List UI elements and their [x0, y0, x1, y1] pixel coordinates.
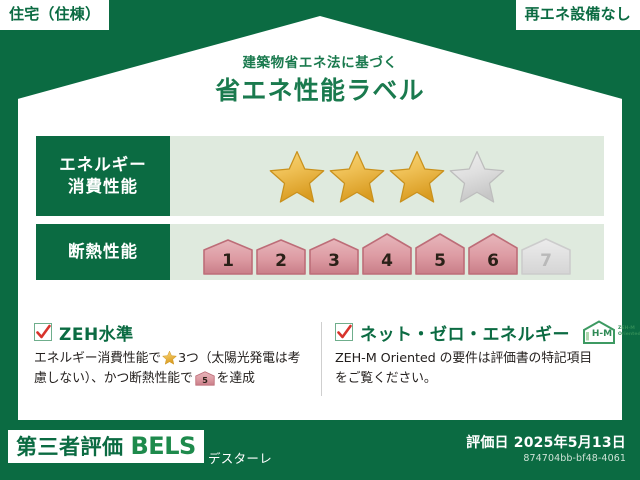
row-insulation-label: 断熱性能 — [36, 224, 170, 280]
bels-badge: 第三者評価 BELS — [8, 430, 204, 463]
performance-rows: エネルギー 消費性能 — [36, 136, 604, 288]
note-net-zero-body: ZEH-M Oriented の要件は評価書の特記項目をご覧ください。 — [335, 349, 594, 389]
check-icon — [337, 324, 352, 341]
insulation-level-1-number: 1 — [202, 253, 254, 270]
insulation-level-2: 2 — [255, 239, 307, 275]
label-title-block: 建築物省エネ法に基づく 省エネ性能ラベル — [0, 56, 640, 104]
note-zeh-standard-title: ZEH水準 — [59, 320, 134, 345]
label-footer: 第三者評価 BELS デスターレ 評価日 2025年5月13日 874704bb… — [0, 422, 640, 480]
note-zeh-standard: ZEH水準 エネルギー消費性能で3つ（太陽光発電は考慮しない）、かつ断熱性能で5… — [34, 320, 321, 393]
star-icon-3 — [388, 148, 446, 204]
row-insulation-performance: 断熱性能 — [36, 224, 604, 280]
insulation-level-scale: 1 2 3 — [202, 229, 572, 275]
row-energy-label-line1: エネルギー — [59, 154, 147, 176]
note-net-zero-head: ネット・ゼロ・エネルギー H-M ZEH-M Oriented — [335, 320, 594, 344]
row-insulation-value: 1 2 3 — [170, 224, 604, 280]
insulation-level-4: 4 — [361, 233, 413, 275]
note-net-zero-energy: ネット・ゼロ・エネルギー H-M ZEH-M Oriented ZEH-M Or… — [321, 320, 608, 393]
zeh-m-house-icon: H-M — [581, 319, 617, 345]
row-energy-performance: エネルギー 消費性能 — [36, 136, 604, 216]
note-zeh-standard-body: エネルギー消費性能で3つ（太陽光発電は考慮しない）、かつ断熱性能で5を達成 — [34, 349, 307, 393]
check-icon — [36, 324, 51, 341]
zeh-m-logo: H-M ZEH-M Oriented — [581, 319, 640, 345]
insulation-level-5: 5 — [414, 233, 466, 275]
insulation-level-3-number: 3 — [308, 253, 360, 270]
star-rating — [268, 148, 506, 204]
vendor-name: デスターレ — [208, 448, 272, 467]
inline-house-chip: 5 — [195, 375, 215, 390]
notes-section: ZEH水準 エネルギー消費性能で3つ（太陽光発電は考慮しない）、かつ断熱性能で5… — [34, 320, 608, 393]
zeh-m-logo-text: H-M — [592, 329, 612, 339]
star-icon-1 — [268, 148, 326, 204]
star-icon-2 — [328, 148, 386, 204]
evaluation-id: 874704bb-bf48-4061 — [523, 453, 626, 464]
insulation-level-7-number: 7 — [520, 253, 572, 270]
insulation-level-7: 7 — [520, 238, 572, 275]
row-insulation-label-line1: 断熱性能 — [68, 241, 138, 263]
note-zeh-body-part1: エネルギー消費性能で — [34, 351, 161, 366]
insulation-level-6: 6 — [467, 233, 519, 275]
badge-building-type: 住宅（住棟） — [0, 0, 109, 30]
row-energy-label: エネルギー 消費性能 — [36, 136, 170, 216]
row-energy-label-line2: 消費性能 — [68, 176, 138, 198]
inline-house-icon: 5 — [195, 371, 215, 386]
checkbox-zeh-standard[interactable] — [34, 323, 52, 341]
note-zeh-standard-head: ZEH水準 — [34, 320, 307, 344]
star-icon-4-empty — [448, 148, 506, 204]
insulation-level-1: 1 — [202, 239, 254, 275]
badge-renewable-equipment: 再エネ設備なし — [516, 0, 640, 30]
insulation-level-2-number: 2 — [255, 253, 307, 270]
bels-japanese-text: 第三者評価 — [16, 437, 124, 458]
note-net-zero-title: ネット・ゼロ・エネルギー — [360, 320, 570, 345]
zeh-m-caption-line2: Oriented — [618, 332, 640, 338]
inline-house-number: 5 — [202, 376, 208, 385]
bels-logo-text: BELS — [131, 434, 196, 458]
note-zeh-body-part3: を達成 — [217, 371, 255, 386]
checkbox-net-zero-energy[interactable] — [335, 323, 353, 341]
energy-performance-label: 住宅（住棟） 再エネ設備なし 建築物省エネ法に基づく 省エネ性能ラベル エネルギ… — [0, 0, 640, 480]
row-energy-value — [170, 136, 604, 216]
evaluation-date: 評価日 2025年5月13日 — [466, 432, 626, 452]
insulation-level-6-number: 6 — [467, 253, 519, 270]
page-title: 省エネ性能ラベル — [0, 77, 640, 105]
insulation-level-3: 3 — [308, 238, 360, 275]
title-subtitle: 建築物省エネ法に基づく — [0, 56, 640, 71]
inline-star-icon — [162, 350, 177, 365]
insulation-level-4-number: 4 — [361, 253, 413, 270]
insulation-level-5-number: 5 — [414, 253, 466, 270]
